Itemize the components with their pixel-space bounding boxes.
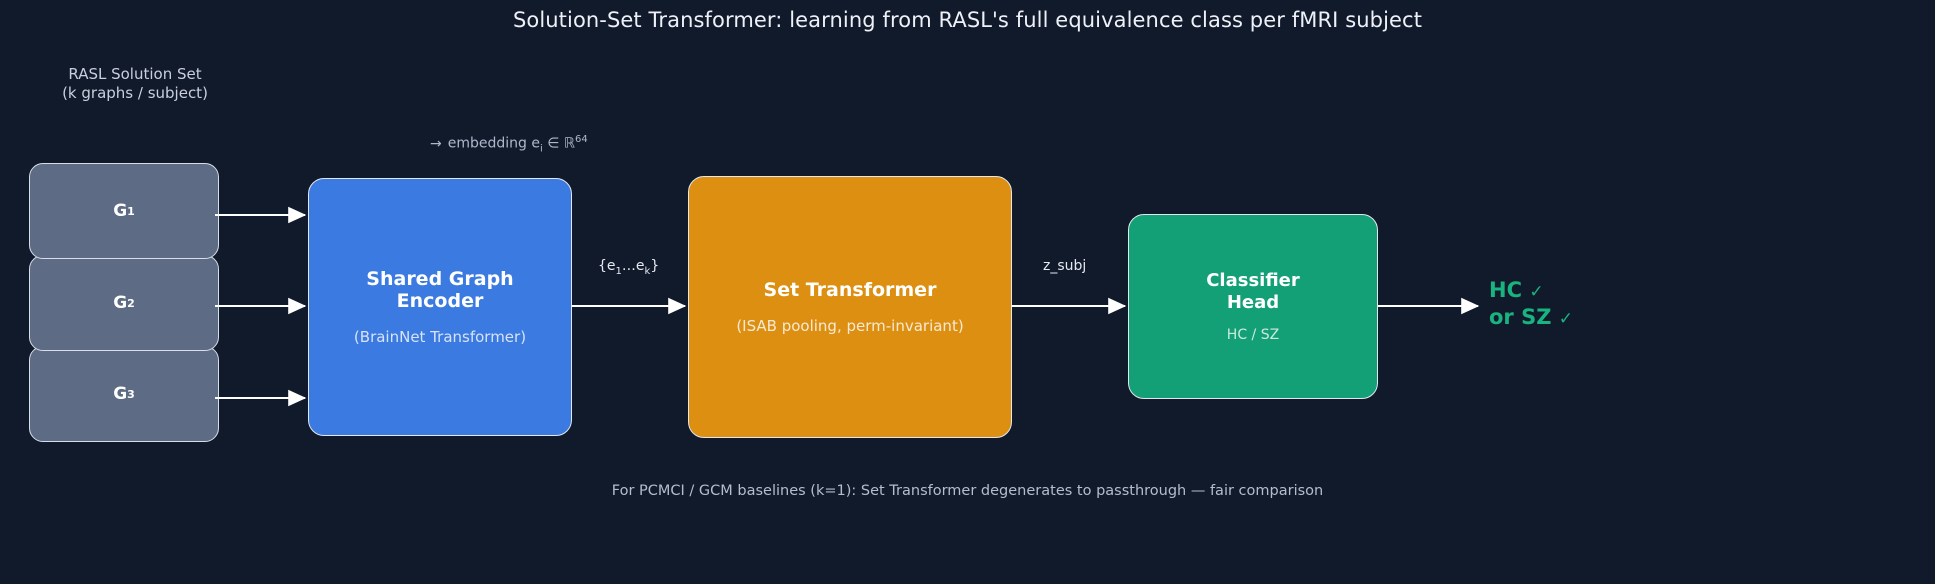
block-encoder-title: Shared Graph Encoder [366, 268, 513, 313]
embedding-annotation-pre: embedding e [448, 136, 540, 152]
footer-note: For PCMCI / GCM baselines (k=1): Set Tra… [0, 483, 1935, 499]
block-set-transformer-subtitle: (ISAB pooling, perm-invariant) [736, 317, 963, 335]
block-classifier-title-line1: Classifier [1206, 270, 1300, 291]
embedding-annotation: →embedding ei ∈ ℝ64 [430, 134, 588, 154]
graph-card-g1-label: G [113, 201, 127, 221]
graph-card-g1[interactable]: G1 [29, 163, 219, 259]
block-encoder-title-line1: Shared Graph [366, 268, 513, 290]
block-classifier-head[interactable]: Classifier Head HC / SZ [1128, 214, 1378, 399]
embedding-annotation-post: ∈ ℝ [543, 136, 575, 152]
right-arrow-icon: → [430, 136, 442, 152]
check-icon-hc: ✓ [1529, 282, 1543, 302]
block-classifier-subtitle: HC / SZ [1227, 327, 1279, 343]
output-prediction: HC ✓ or SZ ✓ [1489, 277, 1573, 331]
block-classifier-title-line2: Head [1227, 292, 1279, 313]
block-shared-graph-encoder[interactable]: Shared Graph Encoder (BrainNet Transform… [308, 178, 572, 436]
edge-label-zsubj: z_subj [1043, 258, 1086, 274]
output-line1-label: HC [1489, 278, 1522, 302]
solution-set-caption-line2: (k graphs / subject) [30, 84, 240, 103]
block-encoder-title-line2: Encoder [397, 290, 484, 312]
edge-label-embeddings-pre: {e [598, 258, 616, 274]
block-set-transformer-title: Set Transformer [764, 279, 937, 301]
graph-card-g3-index: 3 [127, 388, 135, 401]
edge-label-embeddings-mid: …e [622, 258, 645, 274]
graph-card-g1-index: 1 [127, 205, 135, 218]
diagram-canvas: Solution-Set Transformer: learning from … [0, 0, 1935, 584]
graph-card-g3[interactable]: G3 [29, 346, 219, 442]
page-title: Solution-Set Transformer: learning from … [0, 8, 1935, 32]
output-line2-label: or SZ [1489, 305, 1551, 329]
block-classifier-title: Classifier Head [1206, 270, 1300, 312]
embedding-annotation-sup: 64 [575, 134, 588, 145]
graph-card-g2-index: 2 [127, 297, 135, 310]
graph-card-g2[interactable]: G2 [29, 255, 219, 351]
check-icon-sz: ✓ [1559, 309, 1573, 329]
graph-card-g3-label: G [113, 384, 127, 404]
solution-set-caption: RASL Solution Set (k graphs / subject) [30, 65, 240, 103]
block-encoder-subtitle: (BrainNet Transformer) [354, 328, 526, 346]
edge-label-embeddings-post: } [650, 258, 659, 274]
edge-label-embeddings: {e1…ek} [598, 258, 659, 277]
solution-set-caption-line1: RASL Solution Set [68, 65, 201, 83]
graph-card-g2-label: G [113, 293, 127, 313]
block-set-transformer[interactable]: Set Transformer (ISAB pooling, perm-inva… [688, 176, 1012, 438]
